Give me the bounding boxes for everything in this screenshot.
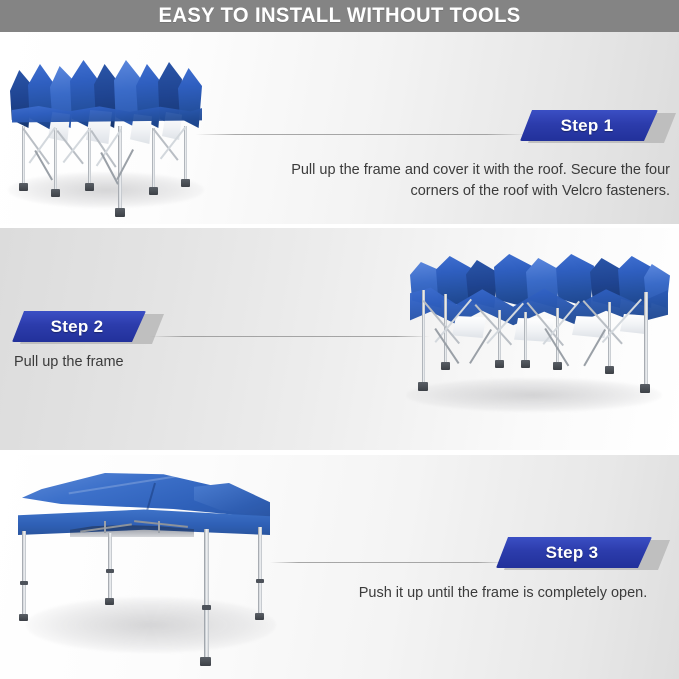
step-3-section: Step 3 Push it up until the frame is com… [0,455,679,679]
step-1-badge: Step 1 [520,110,668,144]
step-3-badge-body: Step 3 [496,537,652,568]
page-header: EASY TO INSTALL WITHOUT TOOLS [0,0,679,32]
step-3-image [8,461,308,673]
page-title: EASY TO INSTALL WITHOUT TOOLS [158,4,520,28]
step-3-connector-line [270,562,506,563]
step-2-section: Step 2 Pull up the frame [0,228,679,450]
step-2-badge: Step 2 [12,311,156,345]
step-2-connector-line [150,336,430,337]
step-1-badge-body: Step 1 [520,110,658,141]
step-1-section: Step 1 Pull up the frame and cover it wi… [0,32,679,224]
step-1-image [2,40,214,218]
step-2-image [396,242,674,418]
step-3-badge: Step 3 [496,537,662,571]
step-2-badge-label: Step 2 [51,317,104,337]
step-1-badge-label: Step 1 [561,116,614,136]
step-3-badge-label: Step 3 [546,543,599,563]
step-1-caption: Pull up the frame and cover it with the … [270,160,670,202]
step-2-caption: Pull up the frame [14,352,314,373]
step-2-badge-body: Step 2 [12,311,146,342]
step-3-caption: Push it up until the frame is completely… [340,583,666,604]
step-1-connector-line [196,134,526,135]
